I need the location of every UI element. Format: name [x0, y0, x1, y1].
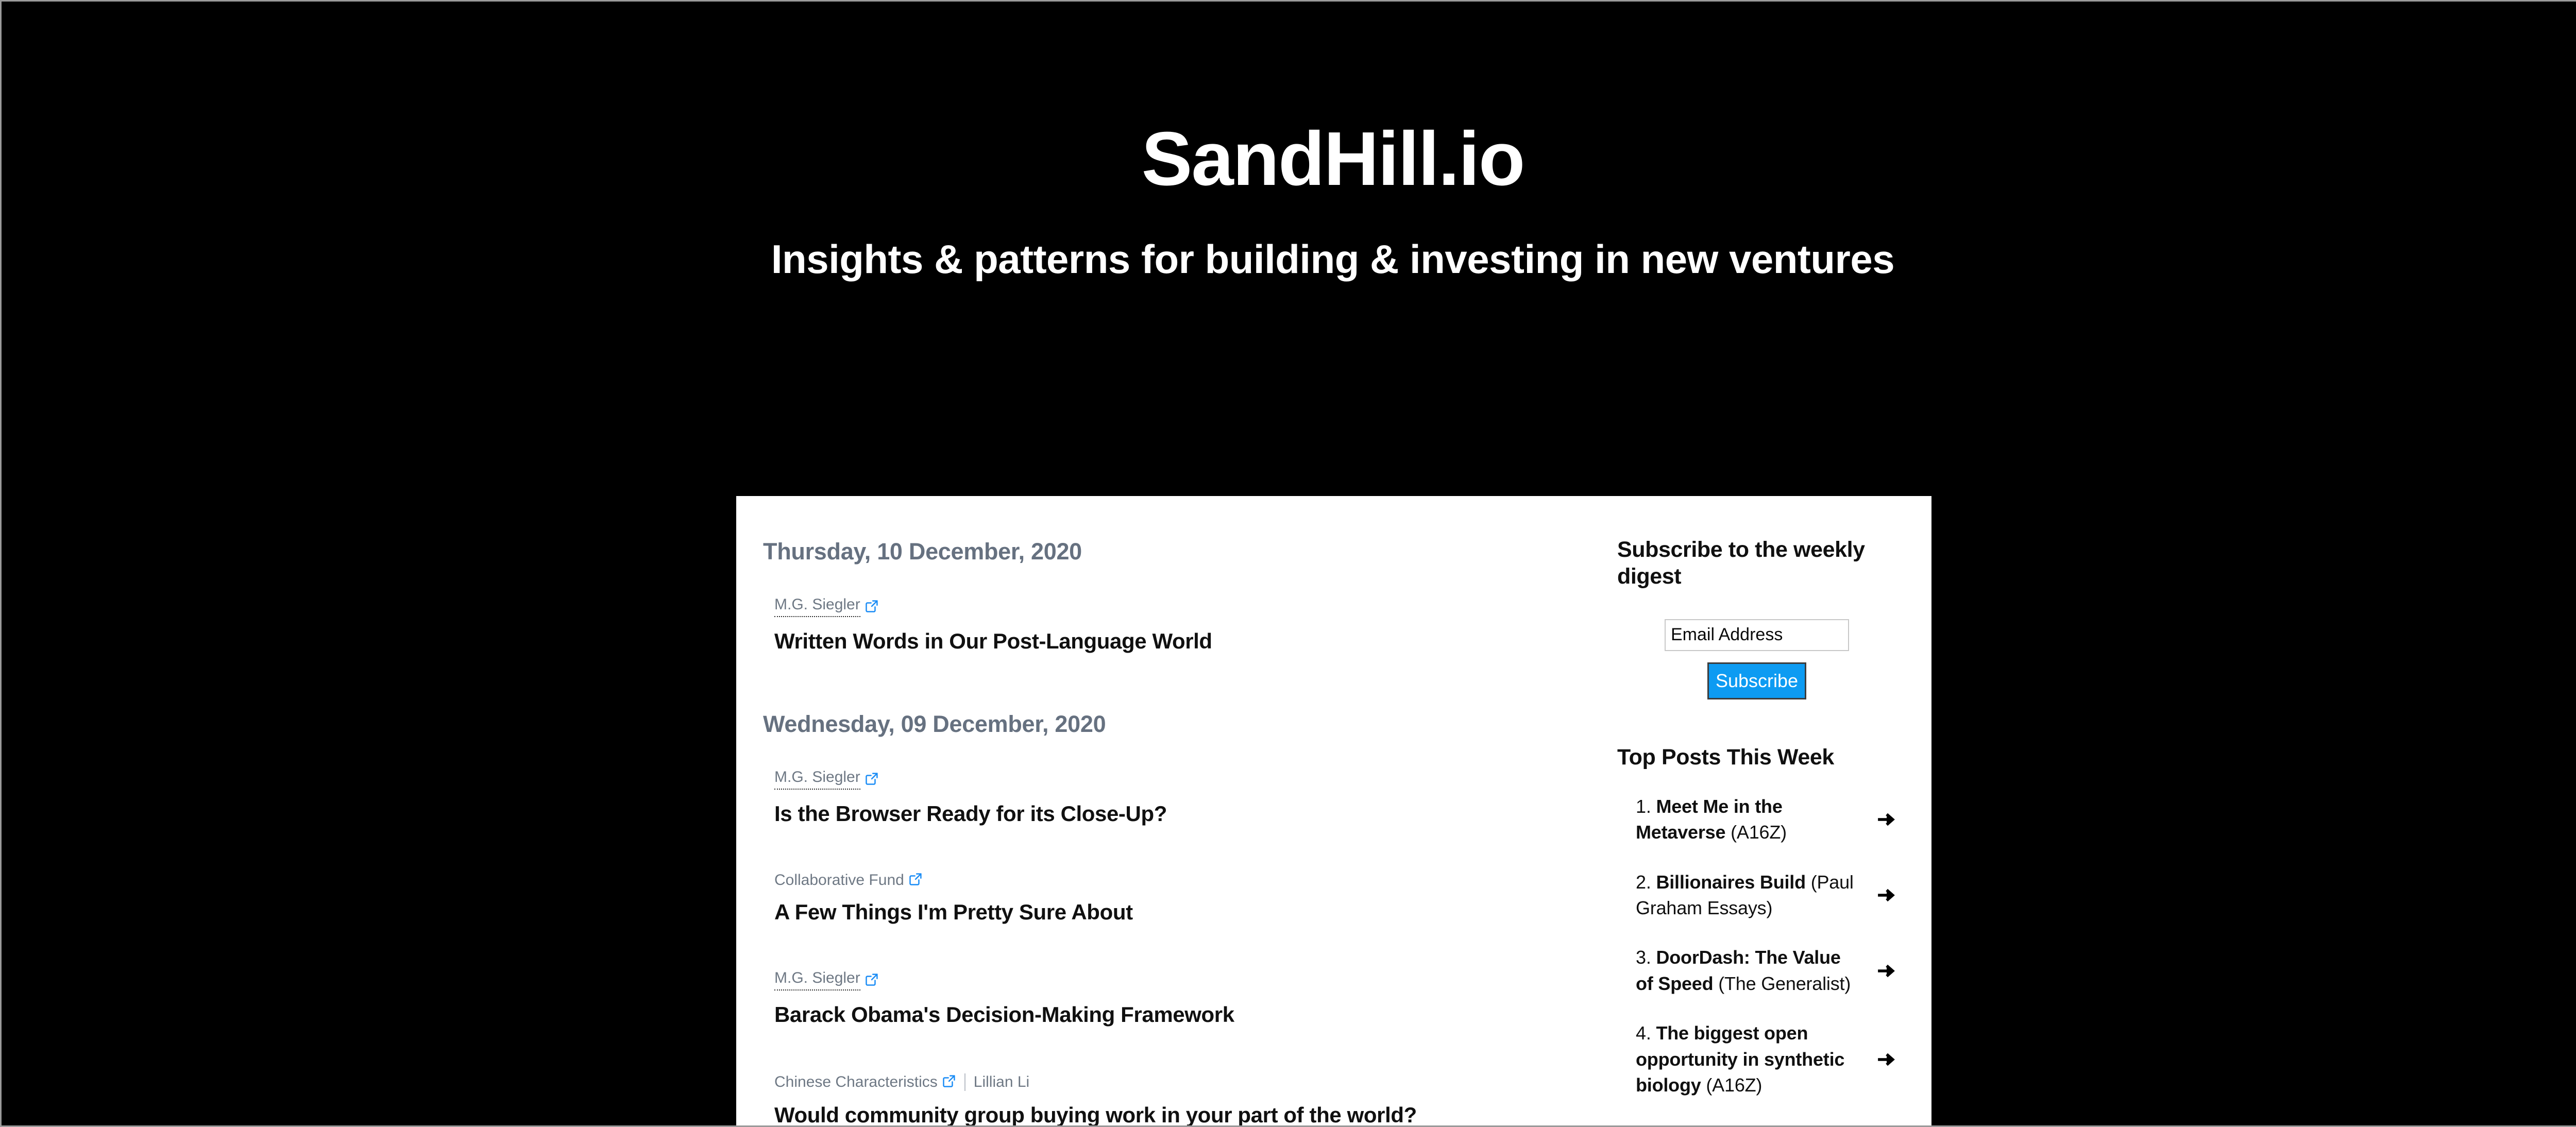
arrow-right-icon[interactable]	[1875, 809, 1896, 830]
article-source-line: Collaborative Fund	[774, 873, 1617, 888]
top-post-rank: 2.	[1636, 872, 1656, 893]
top-post-rank: 3.	[1636, 947, 1656, 968]
article-title[interactable]: Written Words in Our Post-Language World	[774, 628, 1617, 654]
arrow-right-icon[interactable]	[1875, 960, 1896, 982]
article-item[interactable]: M.G. Siegler Barack Obama's Decision-Mak…	[763, 970, 1617, 1028]
top-post-text: 3. DoorDash: The Value of Speed (The Gen…	[1636, 945, 1875, 997]
source-author-separator	[964, 1073, 965, 1091]
site-subtitle: Insights & patterns for building & inves…	[2, 233, 2576, 285]
article-item[interactable]: Chinese Characteristics Lillian Li Would…	[763, 1073, 1617, 1127]
subscribe-heading: Subscribe to the weekly digest	[1617, 536, 1896, 590]
top-post-rank: 4.	[1636, 1022, 1656, 1044]
content-card: Thursday, 10 December, 2020 M.G. Siegler…	[736, 496, 1931, 1127]
external-link-icon[interactable]	[865, 772, 879, 786]
subscribe-button[interactable]: Subscribe	[1707, 662, 1806, 699]
article-title[interactable]: Barack Obama's Decision-Making Framework	[774, 1002, 1617, 1028]
source-link[interactable]: Chinese Characteristics	[774, 1074, 938, 1090]
top-post-text: 2. Billionaires Build (Paul Graham Essay…	[1636, 869, 1875, 921]
page-root: SandHill.io Insights & patterns for buil…	[0, 0, 2576, 1127]
article-source-line: M.G. Siegler	[774, 597, 1617, 617]
source-link[interactable]: Collaborative Fund	[774, 873, 904, 888]
article-item[interactable]: M.G. Siegler Written Words in Our Post-L…	[763, 597, 1617, 654]
top-post-item[interactable]: 4. The biggest open opportunity in synth…	[1617, 1020, 1896, 1098]
article-item[interactable]: M.G. Siegler Is the Browser Ready for it…	[763, 770, 1617, 827]
external-link-icon[interactable]	[909, 872, 923, 886]
author-name: Lillian Li	[974, 1074, 1029, 1090]
top-post-item[interactable]: 2. Billionaires Build (Paul Graham Essay…	[1617, 869, 1896, 921]
article-title[interactable]: A Few Things I'm Pretty Sure About	[774, 899, 1617, 925]
article-source-line: M.G. Siegler	[774, 970, 1617, 991]
arrow-right-icon[interactable]	[1875, 884, 1896, 906]
top-post-title: Billionaires Build	[1656, 872, 1805, 893]
external-link-icon[interactable]	[865, 599, 879, 613]
day-heading: Thursday, 10 December, 2020	[763, 538, 1617, 565]
top-post-text: 4. The biggest open opportunity in synth…	[1636, 1020, 1875, 1098]
source-link[interactable]: M.G. Siegler	[774, 597, 860, 617]
external-link-icon[interactable]	[865, 972, 879, 986]
article-source-line: Chinese Characteristics Lillian Li	[774, 1073, 1617, 1091]
source-link[interactable]: M.G. Siegler	[774, 970, 860, 991]
external-link-icon[interactable]	[942, 1074, 956, 1088]
email-input[interactable]	[1665, 619, 1849, 651]
top-post-source: (A16Z)	[1725, 822, 1787, 843]
hero-section: SandHill.io Insights & patterns for buil…	[2, 2, 2576, 285]
top-post-rank: 1.	[1636, 796, 1656, 817]
top-post-source: (The Generalist)	[1713, 973, 1851, 994]
source-link[interactable]: M.G. Siegler	[774, 770, 860, 790]
top-post-text: 1. Meet Me in the Metaverse (A16Z)	[1636, 794, 1875, 846]
subscribe-form: Subscribe	[1617, 619, 1896, 699]
site-title: SandHill.io	[2, 121, 2576, 197]
arrow-right-icon[interactable]	[1875, 1049, 1896, 1070]
article-feed: Thursday, 10 December, 2020 M.G. Siegler…	[736, 496, 1617, 1127]
top-posts-list: 1. Meet Me in the Metaverse (A16Z) 2. Bi…	[1617, 794, 1896, 1099]
day-heading: Wednesday, 09 December, 2020	[763, 711, 1617, 738]
top-posts-heading: Top Posts This Week	[1617, 745, 1896, 770]
article-title[interactable]: Would community group buying work in you…	[774, 1102, 1617, 1127]
article-item[interactable]: Collaborative Fund A Few Things I'm Pret…	[763, 873, 1617, 925]
top-post-source: (A16Z)	[1701, 1074, 1762, 1096]
sidebar: Subscribe to the weekly digest Subscribe…	[1617, 496, 1931, 1127]
top-post-item[interactable]: 3. DoorDash: The Value of Speed (The Gen…	[1617, 945, 1896, 997]
article-source-line: M.G. Siegler	[774, 770, 1617, 790]
top-post-item[interactable]: 1. Meet Me in the Metaverse (A16Z)	[1617, 794, 1896, 846]
article-title[interactable]: Is the Browser Ready for its Close-Up?	[774, 801, 1617, 827]
